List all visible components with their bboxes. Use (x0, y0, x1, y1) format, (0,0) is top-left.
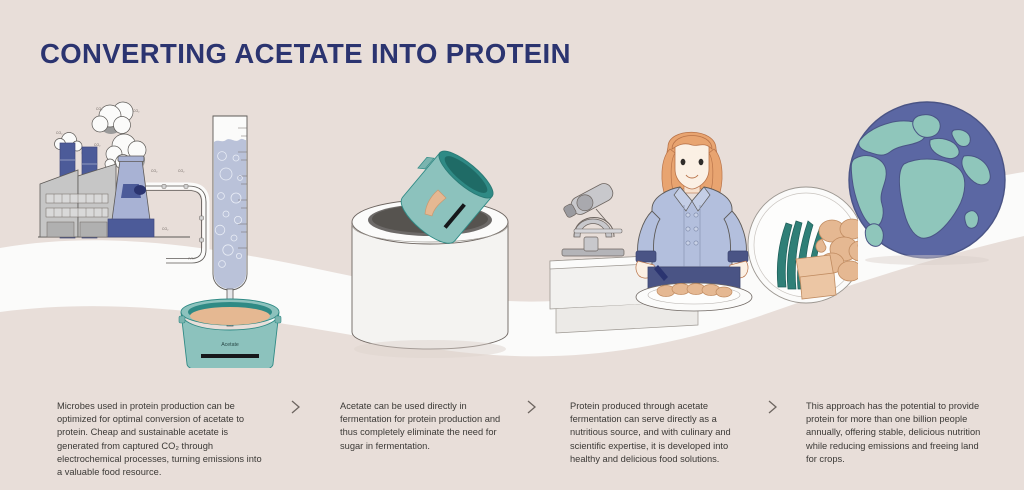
co2-capture-pipe (146, 184, 206, 263)
co2-label: CO₂ (151, 169, 158, 173)
acetate-bucket-label: Acetate (221, 342, 239, 348)
caption-step-2: Acetate can be used directly in fermenta… (340, 400, 520, 453)
co2-label: CO₂ (96, 107, 103, 111)
factory-building (40, 164, 116, 237)
chef-food-plate (636, 283, 752, 311)
caption-step-1: Microbes used in protein production can … (57, 400, 262, 479)
caption-step-4: This approach has the potential to provi… (806, 400, 986, 466)
co2-label: CO₂ (162, 227, 169, 231)
co2-label: CO₂ (56, 131, 63, 135)
co2-label: CO₂ (94, 143, 101, 147)
infographic-canvas: CONVERTING ACETATE INTO PROTEIN (0, 0, 1024, 490)
test-tube-bioreactor (213, 116, 247, 326)
scene-chef-preparing-food (548, 125, 858, 370)
scene-factory-carbon-capture: CO₂ CO₂ CO₂ CO₂ CO₂ CO₂ CO₂ CO₂ (38, 98, 328, 368)
co2-label: CO₂ (133, 109, 140, 113)
chevron-right-icon (524, 398, 540, 416)
co2-label: CO₂ (178, 169, 185, 173)
globe-icon (849, 102, 1005, 265)
caption-step-3: Protein produced through acetate ferment… (570, 400, 750, 466)
page-title: CONVERTING ACETATE INTO PROTEIN (40, 38, 571, 70)
chef-figure (636, 132, 748, 289)
microscope (561, 181, 624, 256)
chevron-right-icon (288, 398, 304, 416)
chevron-right-icon (765, 398, 781, 416)
scene-globe-planet-earth (842, 96, 1012, 266)
acetate-bucket: Acetate (179, 299, 281, 368)
scene-fermentation-tank (330, 140, 530, 365)
